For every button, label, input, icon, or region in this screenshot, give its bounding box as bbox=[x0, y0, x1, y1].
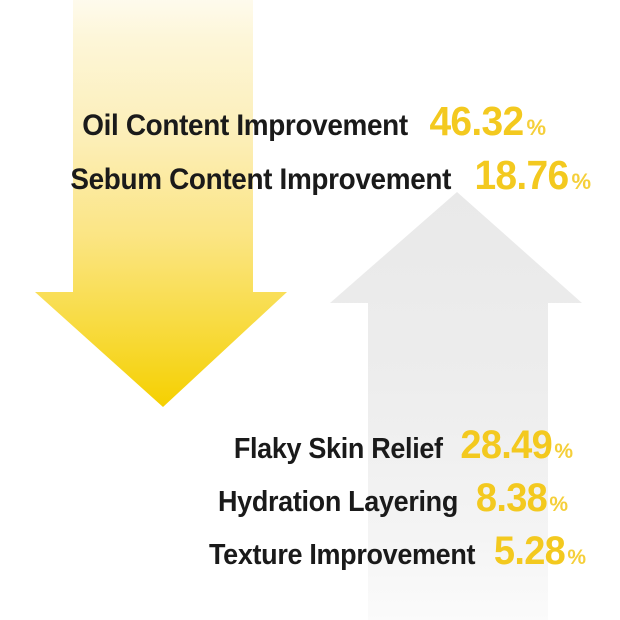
arrows-layer bbox=[0, 0, 620, 620]
metric-label: Hydration Layering bbox=[218, 488, 458, 517]
metric-unit: % bbox=[567, 547, 586, 568]
metric-value: 28.49 bbox=[460, 425, 552, 465]
metric-value: 8.38 bbox=[476, 478, 547, 518]
metric-label: Oil Content Improvement bbox=[82, 111, 408, 141]
metric-label: Flaky Skin Relief bbox=[234, 435, 443, 464]
infographic-canvas: Oil Content Improvement 46.32 % Sebum Co… bbox=[0, 0, 620, 620]
metric-row: Oil Content Improvement 46.32 % bbox=[70, 101, 546, 142]
metric-row: Texture Improvement 5.28 % bbox=[199, 531, 586, 571]
metric-unit: % bbox=[554, 441, 573, 462]
metric-row: Hydration Layering 8.38 % bbox=[209, 478, 568, 518]
metric-label: Texture Improvement bbox=[209, 541, 475, 570]
metric-unit: % bbox=[549, 494, 568, 515]
metric-unit: % bbox=[571, 171, 591, 193]
metric-label: Sebum Content Improvement bbox=[70, 165, 451, 195]
metric-unit: % bbox=[526, 117, 546, 139]
metric-value: 5.28 bbox=[494, 531, 565, 571]
metric-row: Flaky Skin Relief 28.49 % bbox=[226, 425, 573, 465]
metric-row: Sebum Content Improvement 18.76 % bbox=[56, 155, 591, 196]
metric-value: 46.32 bbox=[430, 101, 524, 142]
yellow-down-arrow bbox=[35, 0, 287, 407]
metric-value: 18.76 bbox=[475, 155, 569, 196]
